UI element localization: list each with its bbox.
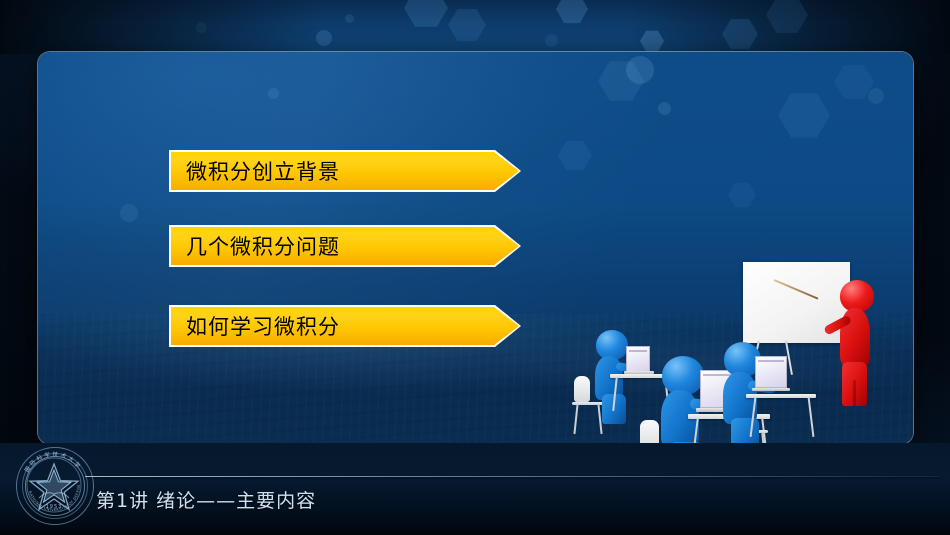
laptop bbox=[752, 356, 792, 394]
bokeh-circle bbox=[316, 30, 332, 46]
hexagon-shape bbox=[448, 8, 486, 42]
bokeh-circle bbox=[345, 14, 354, 23]
slide-content-panel: 微积分创立背景 几个微积分问题 如何学习微积分 bbox=[38, 52, 913, 444]
slide-footer: 第1讲 绪论——主要内容 bbox=[0, 443, 950, 535]
hexagon-shape bbox=[722, 18, 758, 50]
student-legs bbox=[731, 418, 759, 444]
chair-back bbox=[574, 376, 590, 402]
hexagon-shape bbox=[556, 0, 588, 24]
agenda-banner-2-label: 几个微积分问题 bbox=[169, 231, 340, 261]
agenda-banner-3[interactable]: 如何学习微积分 bbox=[169, 305, 521, 347]
bokeh-circle bbox=[868, 88, 884, 104]
university-logo: 国防科学技术大学 NATIONAL UNIVERSITY OF DEFENSE … bbox=[13, 444, 95, 526]
hexagon-shape bbox=[640, 30, 664, 52]
hexagon-shape bbox=[404, 0, 448, 28]
laptop-screen bbox=[626, 346, 650, 372]
svg-text:1953: 1953 bbox=[46, 504, 63, 510]
hexagon-shape bbox=[728, 182, 756, 208]
agenda-banner-3-label: 如何学习微积分 bbox=[169, 311, 340, 341]
bokeh-circle bbox=[268, 88, 279, 99]
classroom-illustration bbox=[538, 252, 898, 444]
desk-leg bbox=[808, 397, 815, 437]
agenda-banner-1[interactable]: 微积分创立背景 bbox=[169, 150, 521, 192]
agenda-banner-1-label: 微积分创立背景 bbox=[169, 156, 340, 186]
teacher-figure bbox=[830, 280, 886, 408]
laptop-screen bbox=[755, 356, 787, 388]
bokeh-circle bbox=[120, 204, 138, 222]
bokeh-circle bbox=[658, 102, 671, 115]
chair-leg bbox=[573, 404, 578, 434]
student-figure-left bbox=[590, 330, 636, 426]
bokeh-circle bbox=[196, 22, 207, 33]
teacher-leg-split bbox=[853, 380, 856, 406]
agenda-banner-2[interactable]: 几个微积分问题 bbox=[169, 225, 521, 267]
hexagon-shape bbox=[766, 0, 808, 34]
laptop-base bbox=[624, 371, 654, 374]
laptop-base bbox=[752, 388, 790, 391]
desk bbox=[746, 394, 816, 398]
logo-emblem: 国防科学技术大学 NATIONAL UNIVERSITY OF DEFENSE … bbox=[13, 444, 95, 526]
laptop bbox=[624, 346, 656, 376]
hexagon-shape bbox=[778, 92, 830, 139]
bokeh-circle bbox=[626, 56, 654, 84]
bokeh-circle bbox=[545, 34, 558, 47]
presentation-slide: 微积分创立背景 几个微积分问题 如何学习微积分 第1讲 绪论——主要内容 bbox=[0, 0, 950, 535]
hexagon-pattern-band bbox=[0, 0, 950, 54]
footer-title: 第1讲 绪论——主要内容 bbox=[96, 486, 316, 513]
footer-separator-line bbox=[85, 476, 940, 477]
